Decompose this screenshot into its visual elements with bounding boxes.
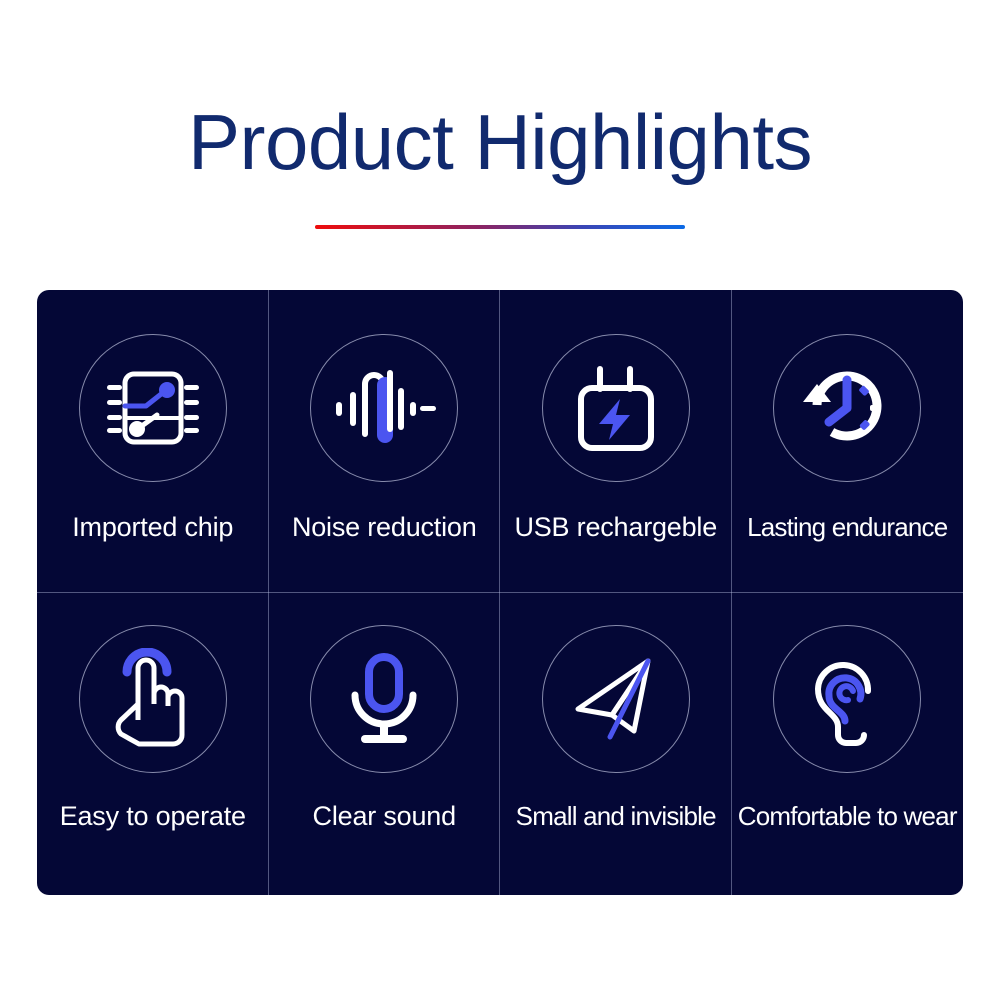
highlight-label: Imported chip — [72, 510, 233, 544]
microphone-icon — [337, 649, 431, 749]
clock-arrow-icon — [793, 358, 901, 458]
highlights-grid: Imported chip Noise reduct — [37, 290, 963, 895]
chip-icon — [99, 358, 207, 458]
highlight-label: USB rechargeble — [514, 510, 717, 544]
highlight-cell-clear-sound[interactable]: Clear sound — [269, 593, 501, 896]
icon-circle — [79, 334, 227, 482]
charger-plug-icon — [568, 358, 664, 458]
highlight-label: Comfortable to wear — [738, 799, 957, 833]
highlight-cell-usb-rechargeable[interactable]: USB rechargeble — [500, 290, 732, 593]
page-title: Product Highlights — [0, 98, 1000, 186]
highlight-cell-small-and-invisible[interactable]: Small and invisible — [500, 593, 732, 896]
icon-circle — [310, 625, 458, 773]
highlight-label: Noise reduction — [292, 510, 477, 544]
highlight-cell-easy-to-operate[interactable]: Easy to operate — [37, 593, 269, 896]
highlight-cell-noise-reduction[interactable]: Noise reduction — [269, 290, 501, 593]
header: Product Highlights — [0, 0, 1000, 270]
highlight-cell-comfortable-to-wear[interactable]: Comfortable to wear — [732, 593, 964, 896]
product-highlights-page: Product Highlights — [0, 0, 1000, 1000]
paper-plane-icon — [566, 649, 666, 749]
title-underline-rule — [315, 225, 685, 229]
ear-icon — [800, 647, 894, 751]
highlight-label: Lasting endurance — [747, 510, 947, 544]
icon-circle — [79, 625, 227, 773]
icon-circle — [542, 625, 690, 773]
icon-circle — [310, 334, 458, 482]
highlight-cell-lasting-endurance[interactable]: Lasting endurance — [732, 290, 964, 593]
highlight-label: Easy to operate — [60, 799, 246, 833]
icon-circle — [773, 334, 921, 482]
highlight-label: Clear sound — [313, 799, 456, 833]
icon-circle — [542, 334, 690, 482]
icon-circle — [773, 625, 921, 773]
highlight-label: Small and invisible — [516, 799, 716, 833]
noise-waveform-icon — [332, 358, 436, 458]
tap-hand-icon — [103, 648, 203, 750]
highlight-cell-imported-chip[interactable]: Imported chip — [37, 290, 269, 593]
